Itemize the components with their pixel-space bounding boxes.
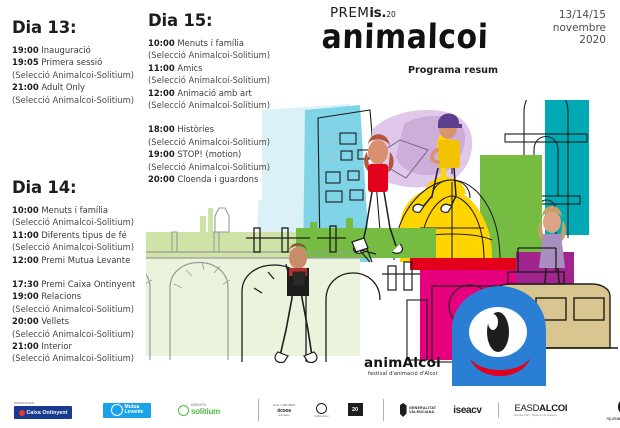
sponsor-divider-3	[498, 402, 499, 418]
sponsor-caixa-ontinyent[interactable]: patrocinen Caixa Ontinyent	[14, 401, 72, 420]
schedule-title: Menuts i família	[175, 38, 244, 48]
sponsor-ajuntament-alcoi[interactable]: Ajuntament d'Alcoi	[606, 399, 620, 421]
schedule-title: Vellets	[39, 316, 69, 326]
schedule-item: 10:00 Menuts i família	[12, 204, 135, 216]
schedule-item: 10:00 Menuts i família	[148, 37, 270, 49]
day13-heading: Dia 13:	[12, 18, 134, 37]
schedule-time: 19:05	[12, 57, 39, 67]
sponsor-caption-collaboren: col·laboren	[273, 403, 295, 407]
generalitat-text: GENERALITAT VALENCIANA	[409, 406, 436, 415]
day13-list: 19:00 Inauguració19:05 Primera sessió(Se…	[12, 44, 134, 106]
schedule-time: 21:00	[12, 341, 39, 351]
mutua-line-2: Levante	[125, 410, 144, 415]
sponsor-divider-1	[258, 399, 259, 421]
schedule-subtitle: (Selecció Animalcoi-Solitium)	[12, 328, 135, 340]
poster-canvas: PREMis.20 animalcoi Programa resum 13/14…	[0, 0, 620, 428]
animalcoi-wordmark: animalcoi	[321, 20, 507, 56]
schedule-time: 20:00	[148, 174, 175, 184]
dates-line-1: 13/14/15	[553, 9, 606, 22]
schedule-subtitle: (Selecció Animalcoi-Solitium)	[12, 216, 135, 228]
schedule-item: 21:00 Interior	[12, 340, 135, 352]
schedule-title: Primera sessió	[39, 57, 103, 67]
schedule-item: 21:00 Adult Only	[12, 81, 134, 93]
grupo-solitium-logo: GRUPO solitium	[178, 403, 240, 417]
schedule-subtitle: (Selecció Animalcoi-Solitium)	[148, 49, 270, 61]
schedule-item: 19:00 Relacions	[12, 290, 135, 302]
sponsor-divider-2	[383, 399, 384, 421]
schedule-subtitle: (Selecció Animalcoi-Solitium)	[148, 136, 270, 148]
solitium-leaf-icon	[178, 405, 189, 416]
schedule-title: Relacions	[39, 291, 81, 301]
schedule-subtitle: (Selecció Animalcoi-Solitium)	[12, 303, 135, 315]
sponsor-ocoos[interactable]: col·laboren ócoos animació	[273, 403, 295, 417]
schedule-gap	[148, 111, 270, 123]
schedule-item: 17:30 Premi Caixa Ontinyent	[12, 278, 135, 290]
schedule-title: Diferents tipus de fé	[39, 230, 127, 240]
caixa-dot-icon	[19, 410, 25, 416]
sponsor-ivam-cada[interactable]: CADA Alcoi	[314, 403, 328, 418]
schedule-subtitle: (Selecció Animalcoi-Solitium)	[148, 99, 270, 111]
schedule-title: Cloenda i guardons	[175, 174, 259, 184]
easd-light-part: EASD	[514, 403, 539, 414]
schedule-time: 11:00	[12, 230, 39, 240]
ocoos-line-2: animació	[273, 414, 295, 417]
schedule-title: Premi Caixa Ontinyent	[39, 279, 136, 289]
animalcoi-footer-logo: animAlcoi festival d'animació d'Alcoi	[364, 356, 441, 377]
schedule-time: 10:00	[12, 205, 39, 215]
sponsor-iseacv[interactable]: iseacv	[453, 405, 481, 416]
sponsor-generalitat-valenciana[interactable]: GENERALITAT VALENCIANA	[400, 403, 437, 417]
mutua-levante-logo: Mutua Levante	[103, 403, 151, 418]
ivam-mark-icon	[316, 403, 327, 414]
red-bar	[410, 258, 520, 270]
schedule-subtitle: (Selecció Animalcoi-Solitium)	[12, 241, 135, 253]
schedule-title: Inauguració	[39, 45, 91, 55]
schedule-item: 20:00 Cloenda i guardons	[148, 173, 270, 185]
schedule-subtitle: (Selecció Animalcoi-Solitium)	[148, 161, 270, 173]
solitium-text: GRUPO solitium	[191, 404, 220, 415]
day15-heading: Dia 15:	[148, 11, 270, 30]
caixa-ontinyent-label: Caixa Ontinyent	[27, 410, 68, 416]
schedule-column-day15: Dia 15: 10:00 Menuts i família(Selecció …	[148, 11, 270, 185]
easd-subtitle: Escola d'Art i Superior de Disseny	[514, 414, 567, 417]
caixa-ontinyent-logo: Caixa Ontinyent	[14, 406, 72, 419]
schedule-item: 20:00 Vellets	[12, 315, 135, 327]
schedule-time: 19:00	[12, 45, 39, 55]
schedule-time: 10:00	[148, 38, 175, 48]
ivam-cada-logo: CADA Alcoi	[314, 403, 328, 418]
schedule-column-day13: Dia 13: 19:00 Inauguració19:05 Primera s…	[12, 18, 134, 106]
mutua-ring-icon	[111, 404, 123, 416]
mutua-levante-text: Mutua Levante	[125, 405, 144, 416]
programa-resum-tagline: Programa resum	[322, 65, 498, 76]
schedule-item: 18:00 Històries	[148, 123, 270, 135]
schedule-column-day14: Dia 14: 10:00 Menuts i família(Selecció …	[12, 178, 135, 365]
footer-logo-name: animAlcoi	[364, 356, 441, 370]
sponsor-easd-alcoi[interactable]: EASDALCOI Escola d'Art i Superior de Dis…	[514, 403, 567, 417]
schedule-title: Menuts i família	[39, 205, 108, 215]
schedule-time: 12:00	[12, 255, 39, 265]
generalitat-crest-icon	[400, 403, 407, 417]
festival-dates: 13/14/15 novembre 2020	[553, 9, 606, 47]
schedule-time: 17:30	[12, 279, 39, 289]
sponsor-group-institutions: GENERALITAT VALENCIANA iseacv EASDALCOI …	[400, 399, 620, 421]
schedule-title: Interior	[39, 341, 72, 351]
sponsor-caption-patrocinen: patrocinen	[14, 401, 72, 405]
easd-title: EASDALCOI	[514, 403, 567, 414]
schedule-item: 19:00 STOP! (motion)	[148, 148, 270, 160]
sponsor-group-patrocinen: patrocinen Caixa Ontinyent Mutua Levante	[14, 401, 240, 420]
sponsor-group-collaboren: col·laboren ócoos animació CADA Alcoi 20	[273, 403, 363, 418]
ajuntament-label: Ajuntament d'Alcoi	[606, 416, 620, 421]
day14-list: 10:00 Menuts i família(Selecció Animalco…	[12, 204, 135, 365]
day14-heading: Dia 14:	[12, 178, 135, 197]
schedule-subtitle: (Selecció Animalcoi-Solitium)	[148, 74, 270, 86]
schedule-item: 11:00 Amics	[148, 62, 270, 74]
sponsor-badge-20[interactable]: 20	[348, 403, 363, 416]
schedule-subtitle: (Selecció Animalcoi-Solitium)	[12, 69, 134, 81]
schedule-item: 12:00 Animació amb art	[148, 87, 270, 99]
schedule-title: Adult Only	[39, 82, 85, 92]
solitium-line-2: solitium	[191, 408, 220, 416]
schedule-time: 19:00	[148, 149, 175, 159]
dates-line-2: novembre	[553, 22, 606, 35]
ivam-line-2: CADA Alcoi	[314, 415, 328, 418]
schedule-title: STOP! (motion)	[175, 149, 242, 159]
day15-list: 10:00 Menuts i família(Selecció Animalco…	[148, 37, 270, 185]
easd-bold-part: ALCOI	[539, 403, 567, 414]
sponsor-mutua-levante[interactable]: Mutua Levante	[103, 403, 151, 418]
badge-20-logo: 20	[348, 403, 363, 416]
schedule-gap	[12, 266, 135, 278]
schedule-title: Animació amb art	[175, 88, 252, 98]
schedule-time: 12:00	[148, 88, 175, 98]
schedule-time: 18:00	[148, 124, 175, 134]
festival-brand: PREMis.20 animalcoi Programa resum	[322, 6, 507, 76]
schedule-time: 11:00	[148, 63, 175, 73]
schedule-subtitle: (Selecció Animalcoi-Solitium)	[12, 94, 134, 106]
generalitat-line-2: VALENCIANA	[409, 410, 436, 414]
schedule-title: Premi Mutua Levante	[39, 255, 131, 265]
footer-logo-subtitle: festival d'animació d'Alcoi	[364, 371, 441, 377]
schedule-time: 21:00	[12, 82, 39, 92]
ocoos-logo: ócoos animació	[273, 409, 295, 417]
schedule-item: 19:05 Primera sessió	[12, 56, 134, 68]
dates-line-3: 2020	[553, 34, 606, 47]
monster-eye-highlight	[488, 314, 498, 330]
schedule-time: 19:00	[12, 291, 39, 301]
schedule-item: 12:00 Premi Mutua Levante	[12, 254, 135, 266]
schedule-item: 11:00 Diferents tipus de fé	[12, 229, 135, 241]
schedule-time: 20:00	[12, 316, 39, 326]
sponsor-grupo-solitium[interactable]: GRUPO solitium	[178, 403, 240, 417]
schedule-title: Històries	[175, 124, 214, 134]
schedule-subtitle: (Selecció Animalcoi-Solitium)	[12, 352, 135, 364]
schedule-item: 19:00 Inauguració	[12, 44, 134, 56]
sponsor-bar: patrocinen Caixa Ontinyent Mutua Levante	[0, 392, 620, 428]
schedule-title: Amics	[175, 63, 203, 73]
